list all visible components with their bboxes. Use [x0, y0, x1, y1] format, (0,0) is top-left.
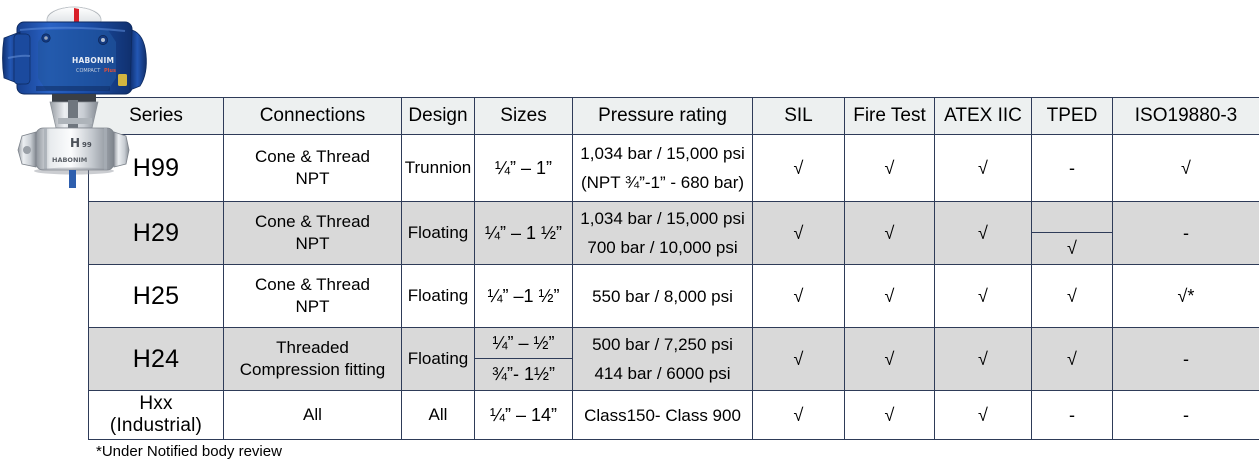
cell-sizes-h25: ¼” –1 ½”: [475, 265, 573, 328]
cell-design-h99: Trunnion: [402, 135, 475, 202]
tped-sub-bottom: √: [1032, 233, 1112, 264]
cell-atex-hxx: √: [935, 391, 1032, 440]
sizes-sub-bottom: ¾”- 1½”: [475, 359, 572, 390]
cell-connections-hxx: All: [224, 391, 402, 440]
footnote-notified-body: *Under Notified body review: [96, 443, 282, 460]
column-header-connections: Connections: [224, 98, 402, 135]
cell-pressure-hxx: Class150- Class 900: [573, 391, 753, 440]
connections-line1: Cone & Thread: [224, 274, 401, 296]
connections-line1: Threaded: [224, 337, 401, 359]
column-header-sil: SIL: [753, 98, 845, 135]
cell-sil-h25: √: [753, 265, 845, 328]
pressure-line1: 500 bar / 7,250 psi: [573, 330, 752, 359]
cell-pressure-h29: 1,034 bar / 15,000 psi 700 bar / 10,000 …: [573, 202, 753, 265]
series-line2: (Industrial): [89, 415, 223, 437]
column-header-design: Design: [402, 98, 475, 135]
cell-connections-h24: Threaded Compression fitting: [224, 328, 402, 391]
svg-text:HABONIM: HABONIM: [72, 56, 114, 65]
series-line1: Hxx: [89, 393, 223, 415]
cell-sizes-hxx: ¼” – 14”: [475, 391, 573, 440]
connections-line1: Cone & Thread: [224, 211, 401, 233]
cell-series-hxx: Hxx (Industrial): [89, 391, 224, 440]
cell-connections-h99: Cone & Thread NPT: [224, 135, 402, 202]
product-photo-valve: HABONIM COMPACT Plus: [0, 0, 150, 190]
cell-tped-hxx: -: [1032, 391, 1113, 440]
cell-sizes-h29: ¼” – 1 ½”: [475, 202, 573, 265]
table-row-h25: H25 Cone & Thread NPT Floating ¼” –1 ½” …: [89, 265, 1259, 328]
cell-fire-test-hxx: √: [845, 391, 935, 440]
svg-text:99: 99: [82, 141, 92, 149]
cell-atex-h24: √: [935, 328, 1032, 391]
cell-iso-h99: √: [1113, 135, 1259, 202]
cell-iso-hxx: -: [1113, 391, 1259, 440]
cell-iso-h25: √*: [1113, 265, 1259, 328]
cell-sil-hxx: √: [753, 391, 845, 440]
cell-atex-h25: √: [935, 265, 1032, 328]
svg-text:HABONIM: HABONIM: [52, 156, 87, 164]
cell-sil-h29: √: [753, 202, 845, 265]
svg-text:Plus: Plus: [104, 68, 116, 74]
column-header-sizes: Sizes: [475, 98, 573, 135]
cell-tped-h25: √: [1032, 265, 1113, 328]
pressure-line1: 1,034 bar / 15,000 psi: [573, 204, 752, 233]
valve-mounting-bracket: [50, 94, 98, 130]
cell-connections-h25: Cone & Thread NPT: [224, 265, 402, 328]
column-header-fire-test: Fire Test: [845, 98, 935, 135]
cell-iso-h29: -: [1113, 202, 1259, 265]
connections-line2: NPT: [224, 296, 401, 318]
cell-sizes-h24: ¼” – ½” ¾”- 1½”: [475, 328, 573, 391]
cell-tped-h99: -: [1032, 135, 1113, 202]
pressure-line1: 1,034 bar / 15,000 psi: [573, 139, 752, 168]
cell-tped-h24: √: [1032, 328, 1113, 391]
cell-series-h24: H24: [89, 328, 224, 391]
cell-design-h24: Floating: [402, 328, 475, 391]
valve-tag-h99: H: [70, 136, 80, 150]
cell-design-h25: Floating: [402, 265, 475, 328]
cell-sil-h99: √: [753, 135, 845, 202]
cell-design-hxx: All: [402, 391, 475, 440]
cell-pressure-h99: 1,034 bar / 15,000 psi (NPT ¾”-1” - 680 …: [573, 135, 753, 202]
table-row-h24: H24 Threaded Compression fitting Floatin…: [89, 328, 1259, 391]
connections-line2: Compression fitting: [224, 359, 401, 381]
cell-fire-test-h24: √: [845, 328, 935, 391]
pressure-line2: 700 bar / 10,000 psi: [573, 233, 752, 262]
pressure-line2: (NPT ¾”-1” - 680 bar): [573, 168, 752, 197]
table-row-hxx-industrial: Hxx (Industrial) All All ¼” – 14” Class1…: [89, 391, 1259, 440]
cell-iso-h24: -: [1113, 328, 1259, 391]
table-row-h29: H29 Cone & Thread NPT Floating ¼” – 1 ½”…: [89, 202, 1259, 265]
cell-pressure-h24: 500 bar / 7,250 psi 414 bar / 6000 psi: [573, 328, 753, 391]
valve-bottom-stem: [69, 170, 76, 188]
cell-sil-h24: √: [753, 328, 845, 391]
cell-series-h25: H25: [89, 265, 224, 328]
cell-design-h29: Floating: [402, 202, 475, 265]
column-header-atex-iic: ATEX IIC: [935, 98, 1032, 135]
tped-sub-top: [1032, 202, 1112, 233]
cell-pressure-h25: 550 bar / 8,000 psi: [573, 265, 753, 328]
connections-line2: NPT: [224, 233, 401, 255]
cell-fire-test-h29: √: [845, 202, 935, 265]
ball-valve-body: H 99 HABONIM: [18, 128, 129, 175]
table-row-h99: H99 Cone & Thread NPT Trunnion ¼” – 1” 1…: [89, 135, 1259, 202]
product-series-specification-table: Series Connections Design Sizes Pressure…: [88, 97, 1259, 440]
cell-fire-test-h25: √: [845, 265, 935, 328]
cell-sizes-h99: ¼” – 1”: [475, 135, 573, 202]
pneumatic-actuator-body: HABONIM COMPACT Plus: [3, 22, 147, 94]
column-header-iso19880-3: ISO19880-3: [1113, 98, 1259, 135]
table-header-row: Series Connections Design Sizes Pressure…: [89, 98, 1259, 135]
connections-line2: NPT: [224, 168, 401, 190]
sizes-sub-top: ¼” – ½”: [475, 328, 572, 359]
column-header-tped: TPED: [1032, 98, 1113, 135]
cell-tped-h29: √: [1032, 202, 1113, 265]
cell-connections-h29: Cone & Thread NPT: [224, 202, 402, 265]
cell-series-h29: H29: [89, 202, 224, 265]
svg-text:COMPACT: COMPACT: [76, 68, 101, 74]
connections-line1: Cone & Thread: [224, 146, 401, 168]
cell-fire-test-h99: √: [845, 135, 935, 202]
cell-atex-h29: √: [935, 202, 1032, 265]
cell-atex-h99: √: [935, 135, 1032, 202]
column-header-pressure-rating: Pressure rating: [573, 98, 753, 135]
pressure-line2: 414 bar / 6000 psi: [573, 359, 752, 388]
